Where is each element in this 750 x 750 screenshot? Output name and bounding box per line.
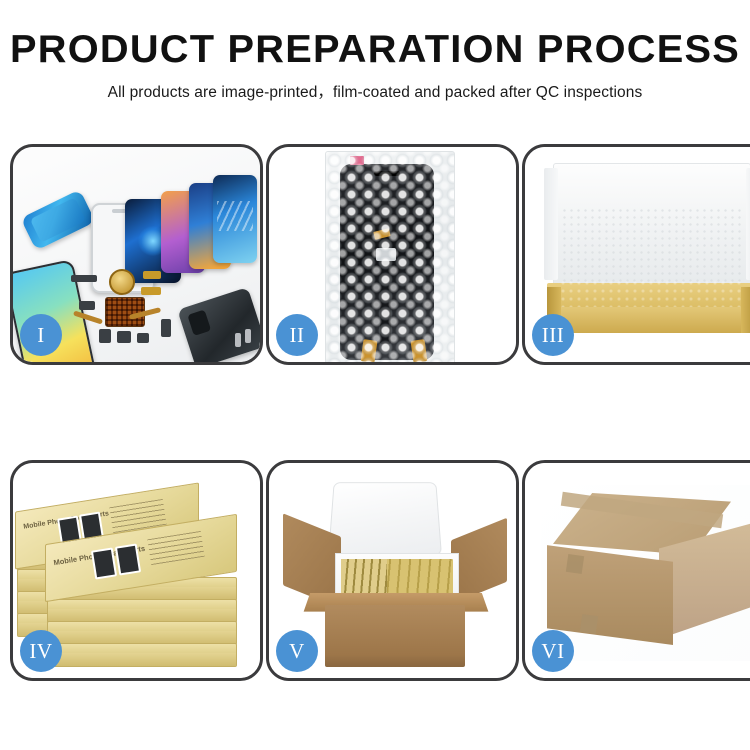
phone-display-gradient xyxy=(213,175,257,263)
screw-part xyxy=(235,333,241,347)
process-step-grid: I II xyxy=(10,144,742,681)
stacked-box-f2 xyxy=(47,599,237,623)
process-step-panel-2[interactable]: II xyxy=(266,144,519,365)
chip-part-b xyxy=(99,329,111,343)
process-step-panel-4[interactable]: Mobile Phone Spare Parts Mobile Phone Sp… xyxy=(10,460,263,681)
page-subtitle: All products are image-printed，film-coat… xyxy=(0,80,750,102)
earpiece-part xyxy=(71,275,97,282)
chip-part-c xyxy=(117,331,131,343)
speaker-coil-part xyxy=(109,269,135,295)
box-thumb-front-b xyxy=(115,543,141,575)
step-6-image: VI xyxy=(525,463,750,678)
step-5-image: V xyxy=(269,463,516,678)
screw-part-2 xyxy=(245,329,251,343)
camera-module xyxy=(161,319,171,337)
foam-insert-sheet xyxy=(561,207,741,283)
process-step-panel-1[interactable]: I xyxy=(10,144,263,365)
box-thumb-front-a xyxy=(91,547,117,579)
page-title: PRODUCT PREPARATION PROCESS xyxy=(0,30,750,71)
stacked-box-f4 xyxy=(47,643,237,667)
foam-lid-open xyxy=(328,482,442,555)
process-step-panel-3[interactable]: III xyxy=(522,144,750,365)
gold-flex-a xyxy=(143,271,161,279)
tray-front-face xyxy=(547,307,750,333)
chip-part-d xyxy=(137,333,149,343)
chip-part-a xyxy=(79,301,95,310)
step-badge-2: II xyxy=(276,314,318,356)
step-4-image: Mobile Phone Spare Parts Mobile Phone Sp… xyxy=(13,463,260,678)
sealing-tape-edge-upper xyxy=(566,554,584,574)
tray-right-edge xyxy=(741,287,750,333)
process-step-panel-6[interactable]: VI xyxy=(522,460,750,681)
step-badge-1: I xyxy=(20,314,62,356)
gold-flex-b xyxy=(141,287,161,295)
carton-body xyxy=(325,605,465,667)
bubble-wrapped-contents xyxy=(559,279,743,309)
page-header: PRODUCT PREPARATION PROCESS All products… xyxy=(0,0,750,102)
stacked-box-f3 xyxy=(47,621,237,645)
sealing-tape-edge-lower xyxy=(580,614,598,634)
step-3-image: III xyxy=(525,147,750,362)
step-badge-5: V xyxy=(276,630,318,672)
step-2-image: II xyxy=(269,147,516,362)
bubble-texture-overlay xyxy=(326,152,454,362)
bubble-wrap-package xyxy=(325,151,455,362)
process-step-panel-5[interactable]: V xyxy=(266,460,519,681)
step-badge-3: III xyxy=(532,314,574,356)
step-badge-4: IV xyxy=(20,630,62,672)
step-badge-6: VI xyxy=(532,630,574,672)
step-1-image: I xyxy=(13,147,260,362)
